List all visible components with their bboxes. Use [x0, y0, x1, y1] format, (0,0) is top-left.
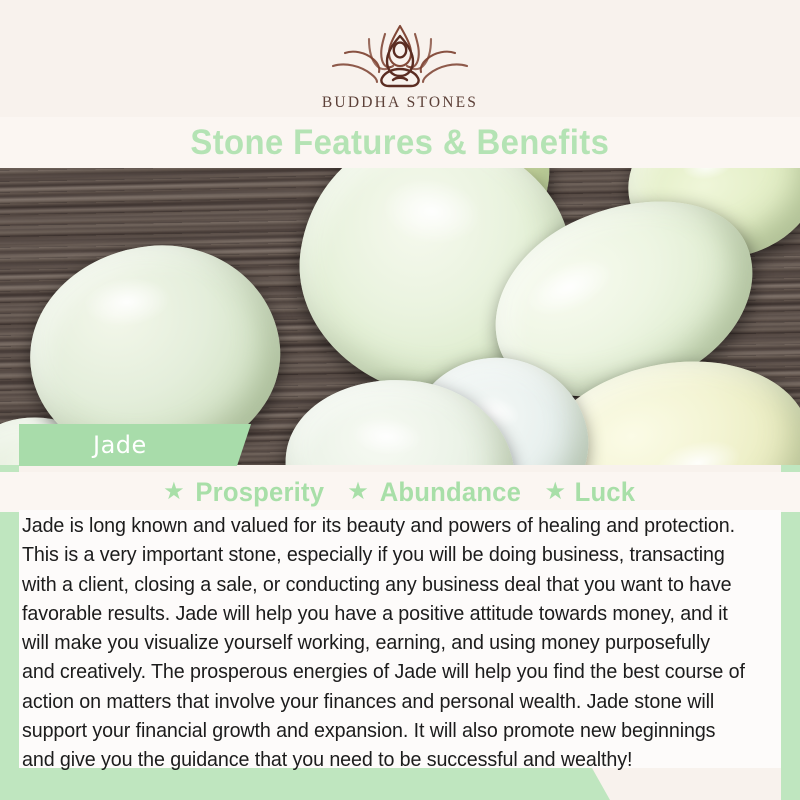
brand-wordmark: BUDDHA STONES: [322, 94, 478, 112]
stone-photo: [0, 168, 800, 465]
title-banner: Stone Features & Benefits: [0, 117, 800, 168]
star-icon: ★: [545, 480, 567, 504]
benefit-label: Prosperity: [195, 477, 324, 508]
stone-name-band: Jade: [19, 424, 251, 466]
stone-info-poster: BUDDHA STONES Stone Features & Benefits …: [0, 0, 800, 800]
brand-header: BUDDHA STONES: [0, 0, 800, 118]
description-panel: Jade is long known and valued for its be…: [19, 510, 781, 768]
lotus-meditation-icon: [325, 22, 475, 90]
benefit-item: ★ Luck: [545, 477, 637, 508]
star-icon: ★: [347, 480, 369, 504]
stone-name-label: Jade: [93, 431, 147, 459]
benefit-item: ★ Abundance: [347, 477, 524, 508]
benefit-label: Luck: [575, 477, 636, 508]
benefit-item: ★ Prosperity: [163, 477, 327, 508]
description-text: Jade is long known and valued for its be…: [22, 512, 747, 776]
star-icon: ★: [163, 480, 185, 504]
page-title: Stone Features & Benefits: [191, 123, 610, 163]
benefit-label: Abundance: [379, 477, 520, 508]
benefits-row: ★ Prosperity ★ Abundance ★ Luck: [0, 472, 800, 512]
